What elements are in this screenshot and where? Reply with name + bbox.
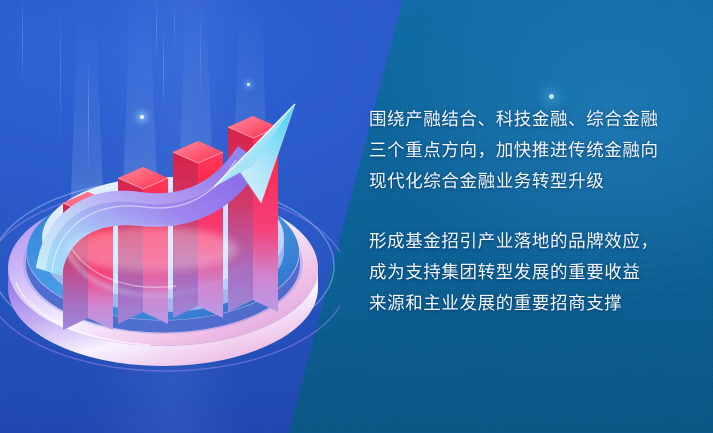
copy-block: 围绕产融结合、科技金融、综合金融 三个重点方向，加快推进传统金融向 现代化综合金… bbox=[369, 104, 689, 319]
illustration-growth-chart bbox=[0, 0, 340, 433]
paragraph-1-line-2: 三个重点方向，加快推进传统金融向 bbox=[369, 135, 689, 166]
paragraph-2: 形成基金招引产业落地的品牌效应， 成为支持集团转型发展的重要收益 来源和主业发展… bbox=[369, 226, 689, 319]
plate-reflection bbox=[66, 227, 238, 271]
paragraph-1-line-3: 现代化综合金融业务转型升级 bbox=[369, 166, 689, 197]
paragraph-1-line-1: 围绕产融结合、科技金融、综合金融 bbox=[369, 104, 689, 135]
paragraph-1: 围绕产融结合、科技金融、综合金融 三个重点方向，加快推进传统金融向 现代化综合金… bbox=[369, 104, 689, 197]
banner-canvas: 围绕产融结合、科技金融、综合金融 三个重点方向，加快推进传统金融向 现代化综合金… bbox=[0, 0, 713, 433]
paragraph-2-line-1: 形成基金招引产业落地的品牌效应， bbox=[369, 226, 689, 257]
glow-dot-icon bbox=[549, 94, 554, 99]
paragraph-2-line-3: 来源和主业发展的重要招商支撑 bbox=[369, 288, 689, 319]
paragraph-2-line-2: 成为支持集团转型发展的重要收益 bbox=[369, 257, 689, 288]
